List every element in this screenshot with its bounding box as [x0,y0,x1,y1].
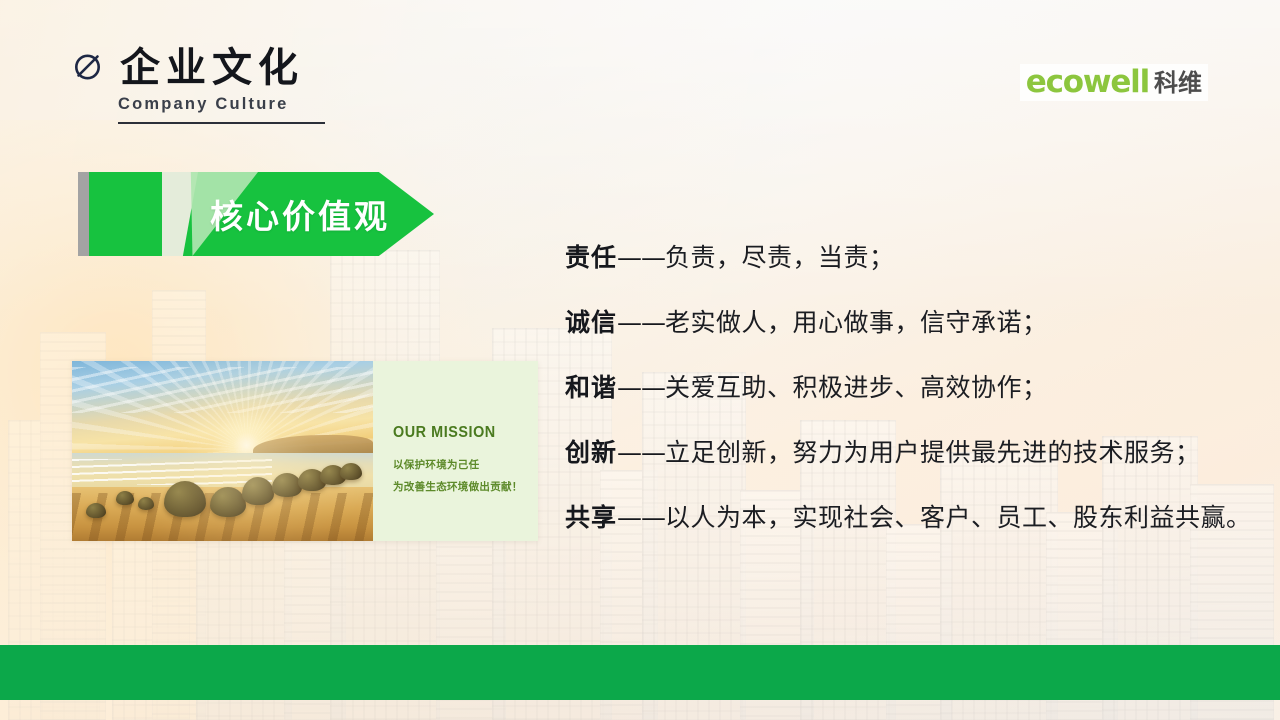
banner-label: 核心价值观 [210,172,390,256]
value-dash: —— [617,503,665,532]
value-text: 老实做人，用心做事，信守承诺； [665,303,1048,339]
value-text: 负责，尽责，当责； [665,238,895,274]
page-title: 企业文化 [120,48,304,88]
page-subtitle: Company Culture [118,95,325,114]
value-key: 和谐 [565,368,617,404]
banner-side-bar [78,172,89,256]
value-text: 立足创新，努力为用户提供最先进的技术服务； [665,433,1201,469]
company-logo: ecowell 科维 [1020,64,1208,101]
core-values-list: 责任 —— 负责，尽责，当责； 诚信 —— 老实做人，用心做事，信守承诺； 和谐… [565,238,1265,563]
value-text: 以人为本，实现社会、客户、员工、股东利益共赢。 [665,498,1252,534]
value-text: 关爱互助、积极进步、高效协作； [665,368,1048,404]
slide-company-culture: 企业文化 Company Culture ecowell 科维 核心价值观 [0,0,1280,720]
mission-block: OUR MISSION 以保护环境为己任 为改善生态环境做出贡献！ [72,361,538,541]
value-dash: —— [617,308,665,337]
value-key: 诚信 [565,303,617,339]
value-key: 创新 [565,433,617,469]
logo-brand-text: ecowell [1026,67,1149,98]
slashed-circle-icon [72,48,106,82]
mission-title: OUR MISSION [393,424,496,442]
logo-brand-cn: 科维 [1154,71,1202,95]
value-row: 共享 —— 以人为本，实现社会、客户、员工、股东利益共赢。 [565,498,1265,534]
mission-card: OUR MISSION 以保护环境为己任 为改善生态环境做出贡献！ [373,361,538,541]
value-row: 责任 —— 负责，尽责，当责； [565,238,1265,274]
page-header: 企业文化 Company Culture [72,48,325,124]
mission-photo [72,361,373,541]
value-dash: —— [617,373,665,402]
footer-bar [0,645,1280,700]
mission-line-1: 以保护环境为己任 [393,457,479,472]
value-dash: —— [617,438,665,467]
value-dash: —— [617,243,665,272]
core-values-banner: 核心价值观 [78,172,434,256]
value-row: 诚信 —— 老实做人，用心做事，信守承诺； [565,303,1265,339]
value-key: 共享 [565,498,617,534]
value-key: 责任 [565,238,617,274]
value-row: 创新 —— 立足创新，努力为用户提供最先进的技术服务； [565,433,1265,469]
value-row: 和谐 —— 关爱互助、积极进步、高效协作； [565,368,1265,404]
mission-line-2: 为改善生态环境做出贡献！ [393,479,523,494]
header-divider [118,122,325,124]
